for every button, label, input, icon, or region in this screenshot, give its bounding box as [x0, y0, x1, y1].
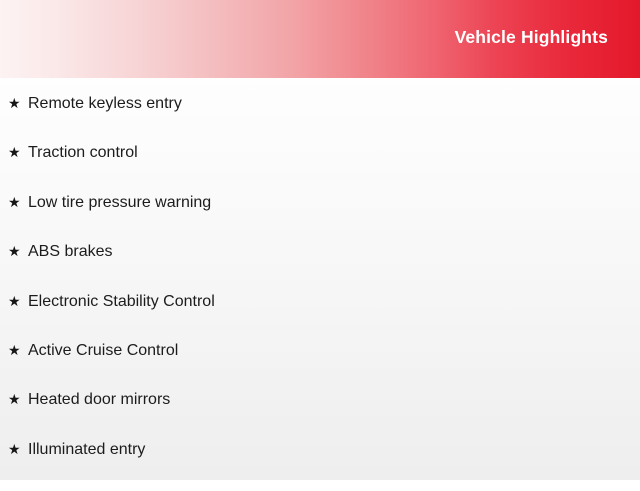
list-item: ★ Traction control — [0, 145, 640, 194]
star-icon: ★ — [8, 392, 28, 406]
feature-label: Traction control — [28, 145, 138, 161]
feature-label: Electronic Stability Control — [28, 294, 215, 310]
feature-label: Illuminated entry — [28, 442, 145, 458]
list-item: ★ Active Cruise Control — [0, 343, 640, 392]
list-item: ★ Low tire pressure warning — [0, 195, 640, 244]
list-item: ★ Illuminated entry — [0, 442, 640, 491]
header-banner: Vehicle Highlights — [0, 0, 640, 78]
feature-label: Active Cruise Control — [28, 343, 178, 359]
list-item: ★ Remote keyless entry — [0, 78, 640, 145]
list-item: ★ Electronic Stability Control — [0, 294, 640, 343]
feature-label: Low tire pressure warning — [28, 195, 211, 211]
star-icon: ★ — [8, 195, 28, 209]
feature-label: Remote keyless entry — [28, 96, 182, 112]
list-item: ★ Heated door mirrors — [0, 392, 640, 441]
star-icon: ★ — [8, 244, 28, 258]
vehicle-highlights-slide: Vehicle Highlights ★ Remote keyless entr… — [0, 0, 640, 480]
star-icon: ★ — [8, 294, 28, 308]
page-title: Vehicle Highlights — [455, 29, 608, 49]
star-icon: ★ — [8, 343, 28, 357]
star-icon: ★ — [8, 96, 28, 110]
list-item: ★ ABS brakes — [0, 244, 640, 293]
star-icon: ★ — [8, 145, 28, 159]
star-icon: ★ — [8, 442, 28, 456]
vehicle-features-list: ★ Remote keyless entry ★ Traction contro… — [0, 78, 640, 491]
feature-label: ABS brakes — [28, 244, 112, 260]
feature-label: Heated door mirrors — [28, 392, 170, 408]
